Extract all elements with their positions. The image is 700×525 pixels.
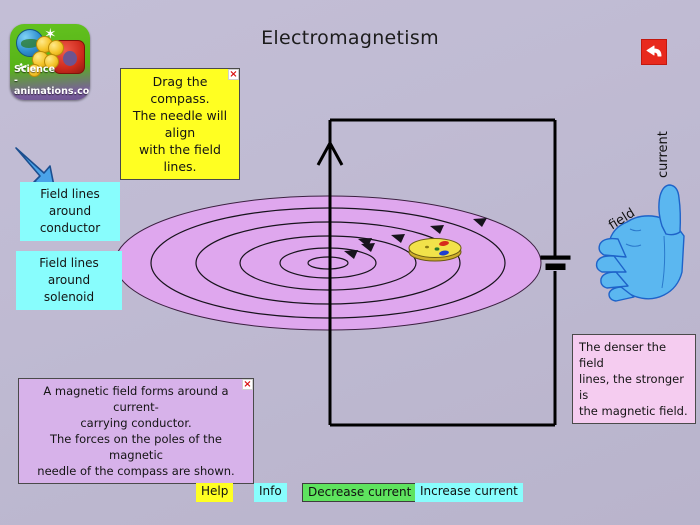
logo-line-1: Science [14, 64, 88, 75]
cell-long-plate [541, 256, 570, 259]
logo-line-2: -animations.com [14, 75, 88, 97]
back-button[interactable] [641, 39, 667, 65]
drag-compass-callout: Drag the compass. The needle will align … [120, 68, 240, 180]
close-icon[interactable]: × [242, 379, 253, 390]
compass-marker [425, 246, 429, 249]
callout-line: Drag the compass. [127, 73, 233, 107]
hand-thumb [659, 185, 680, 235]
compass-dial [409, 239, 461, 258]
callout-line: carrying conductor. [25, 415, 247, 431]
compass-needle-pivot [435, 247, 440, 250]
increase-current-button[interactable]: Increase current [415, 483, 523, 502]
callout-line: with the field lines. [127, 141, 233, 175]
simulation-canvas: ✶ ÷ Science -animations.com Electromagne… [0, 0, 700, 525]
label-field-lines-solenoid[interactable]: Field lines around solenoid [16, 251, 122, 310]
callout-line: The needle will align [127, 107, 233, 141]
callout-line: the magnetic field. [579, 403, 689, 419]
callout-line: needle of the compass are shown. [25, 463, 247, 479]
right-hand-illustration [597, 185, 684, 301]
help-button[interactable]: Help [196, 483, 233, 502]
label-field-lines-conductor: Field lines around conductor [20, 182, 120, 241]
back-arrow-icon [645, 45, 663, 60]
field-density-callout: The denser the field lines, the stronger… [572, 334, 696, 424]
label-line: conductor [23, 220, 117, 237]
magnetic-field-note-callout: A magnetic field forms around a current-… [18, 378, 254, 484]
label-line: Field lines around [23, 186, 117, 220]
page-title: Electromagnetism [0, 27, 700, 49]
cell-short-plate [546, 264, 565, 270]
compass[interactable] [409, 239, 461, 262]
callout-line: The forces on the poles of the magnetic [25, 431, 247, 463]
logo-text: Science -animations.com [14, 64, 88, 97]
hand-label-current: current [656, 131, 671, 178]
info-button[interactable]: Info [254, 483, 287, 502]
callout-line: The denser the field [579, 339, 689, 371]
callout-line: A magnetic field forms around a current- [25, 383, 247, 415]
callout-line: lines, the stronger is [579, 371, 689, 403]
decrease-current-button[interactable]: Decrease current [302, 483, 417, 502]
label-line: Field lines around [19, 255, 119, 289]
close-icon[interactable]: × [228, 69, 239, 80]
battery-symbol [541, 256, 570, 270]
label-line: solenoid [19, 289, 119, 306]
field-region [115, 196, 541, 330]
